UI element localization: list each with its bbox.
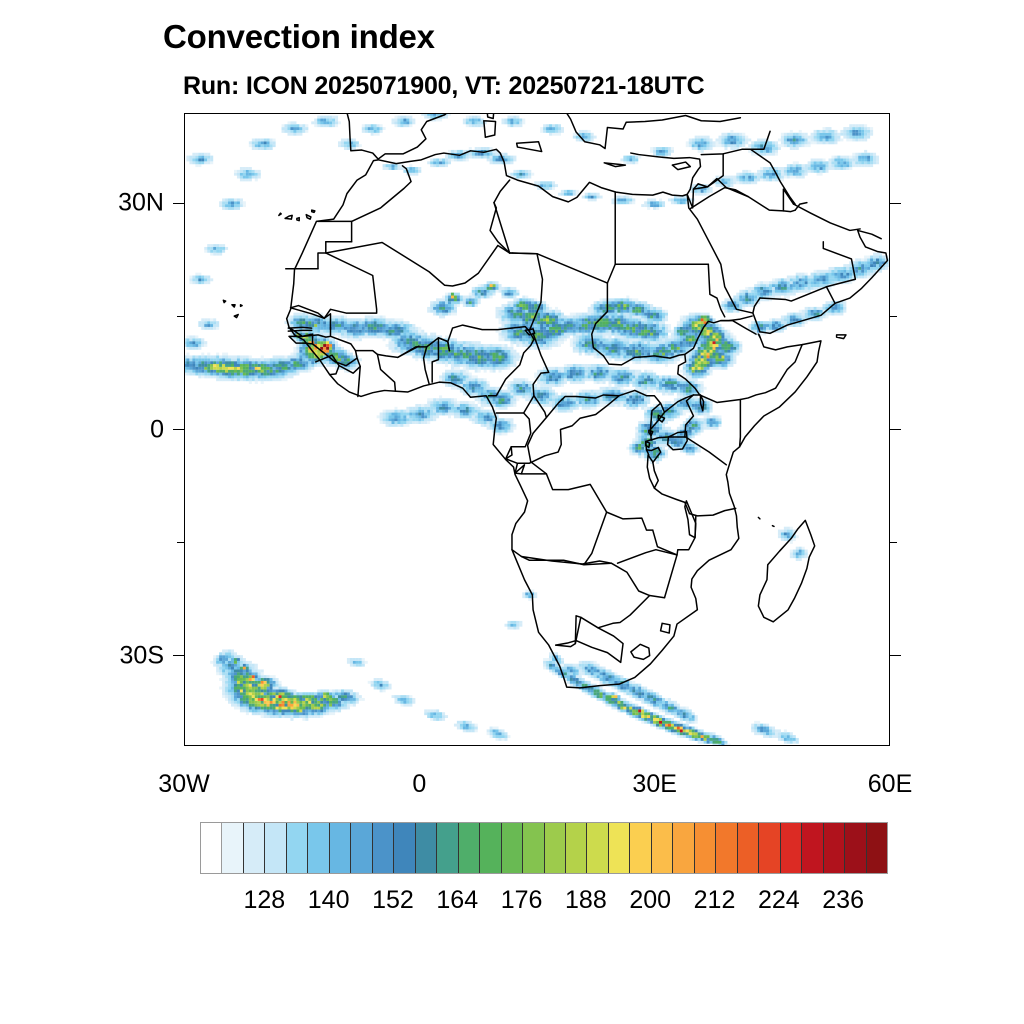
colorbar-cell [716,823,737,873]
colorbar-cell [652,823,673,873]
colorbar-cell [308,823,329,873]
convection-index-figure: Convection index Run: ICON 2025071900, V… [0,0,1024,1024]
y-axis-tick [173,203,184,205]
colorbar-cell [738,823,759,873]
x-axis-tick [0,122,2,129]
x-axis-tick-top [0,43,2,50]
colorbar-cell [545,823,566,873]
y-axis-tick [177,316,184,318]
colorbar-cell [330,823,351,873]
colorbar-cell [845,823,866,873]
y-axis-label: 30N [60,189,164,218]
colorbar-cell [781,823,802,873]
colorbar-cell [480,823,501,873]
colorbar-cell [265,823,286,873]
x-axis-tick-top [0,79,2,86]
colorbar-cell [201,823,222,873]
colorbar-cell [437,823,458,873]
colorbar-tick-label: 164 [436,886,478,915]
x-axis-label: 0 [412,770,426,799]
colorbar-cell [802,823,823,873]
colorbar-tick-label: 236 [822,886,864,915]
colorbar-cell [695,823,716,873]
page-title: Convection index [163,18,435,56]
y-axis-tick-right [890,655,901,657]
y-axis-tick-right [890,203,901,205]
y-axis-label: 30S [60,641,164,670]
colorbar-tick-label: 140 [308,886,350,915]
x-axis-tick [0,86,2,93]
x-axis-label: 30W [158,770,209,799]
x-axis-tick [0,0,2,11]
colorbar [200,822,888,874]
colorbar-cell [759,823,780,873]
colorbar-tick-label: 188 [565,886,607,915]
colorbar-cell [609,823,630,873]
y-axis-tick-right [890,429,901,431]
x-axis-tick-top [0,93,2,100]
x-axis-tick [0,36,2,43]
x-axis-tick [0,100,2,111]
y-axis-tick [177,542,184,544]
x-axis-tick-top [0,143,2,150]
map-canvas [185,114,889,745]
colorbar-cell [351,823,372,873]
colorbar-cell [459,823,480,873]
colorbar-tick-label: 176 [501,886,543,915]
colorbar-cell [287,823,308,873]
colorbar-cell [416,823,437,873]
colorbar-cell [824,823,845,873]
colorbar-cell [673,823,694,873]
x-axis-tick-top [0,11,2,22]
x-axis-tick-top [0,111,2,122]
colorbar-cell [630,823,651,873]
colorbar-cell [373,823,394,873]
x-axis-tick-top [0,61,2,72]
x-axis-tick [0,72,2,79]
x-axis-tick-top [0,29,2,36]
colorbar-cell [244,823,265,873]
colorbar-cell [566,823,587,873]
y-axis-tick-right [890,316,897,318]
colorbar-tick-label: 152 [372,886,414,915]
x-axis-tick [0,50,2,61]
colorbar-tick-label: 128 [243,886,285,915]
colorbar-cell [523,823,544,873]
colorbar-cell [502,823,523,873]
colorbar-cell [587,823,608,873]
x-axis-label: 30E [632,770,676,799]
x-axis-tick-top [0,161,2,172]
x-axis-tick [0,136,2,143]
colorbar-tick-label: 224 [758,886,800,915]
colorbar-cell [222,823,243,873]
colorbar-cell [867,823,887,873]
run-valid-time-subtitle: Run: ICON 2025071900, VT: 20250721-18UTC [183,72,704,101]
x-axis-tick-top [0,129,2,136]
x-axis-tick [0,22,2,29]
colorbar-tick-label: 212 [694,886,736,915]
y-axis-tick-right [890,542,897,544]
y-axis-tick [173,429,184,431]
map-plot-area [184,113,890,746]
x-axis-label: 60E [868,770,912,799]
colorbar-tick-label: 200 [629,886,671,915]
y-axis-label: 0 [60,415,164,444]
x-axis-tick [0,150,2,161]
y-axis-tick [173,655,184,657]
colorbar-cell [394,823,415,873]
